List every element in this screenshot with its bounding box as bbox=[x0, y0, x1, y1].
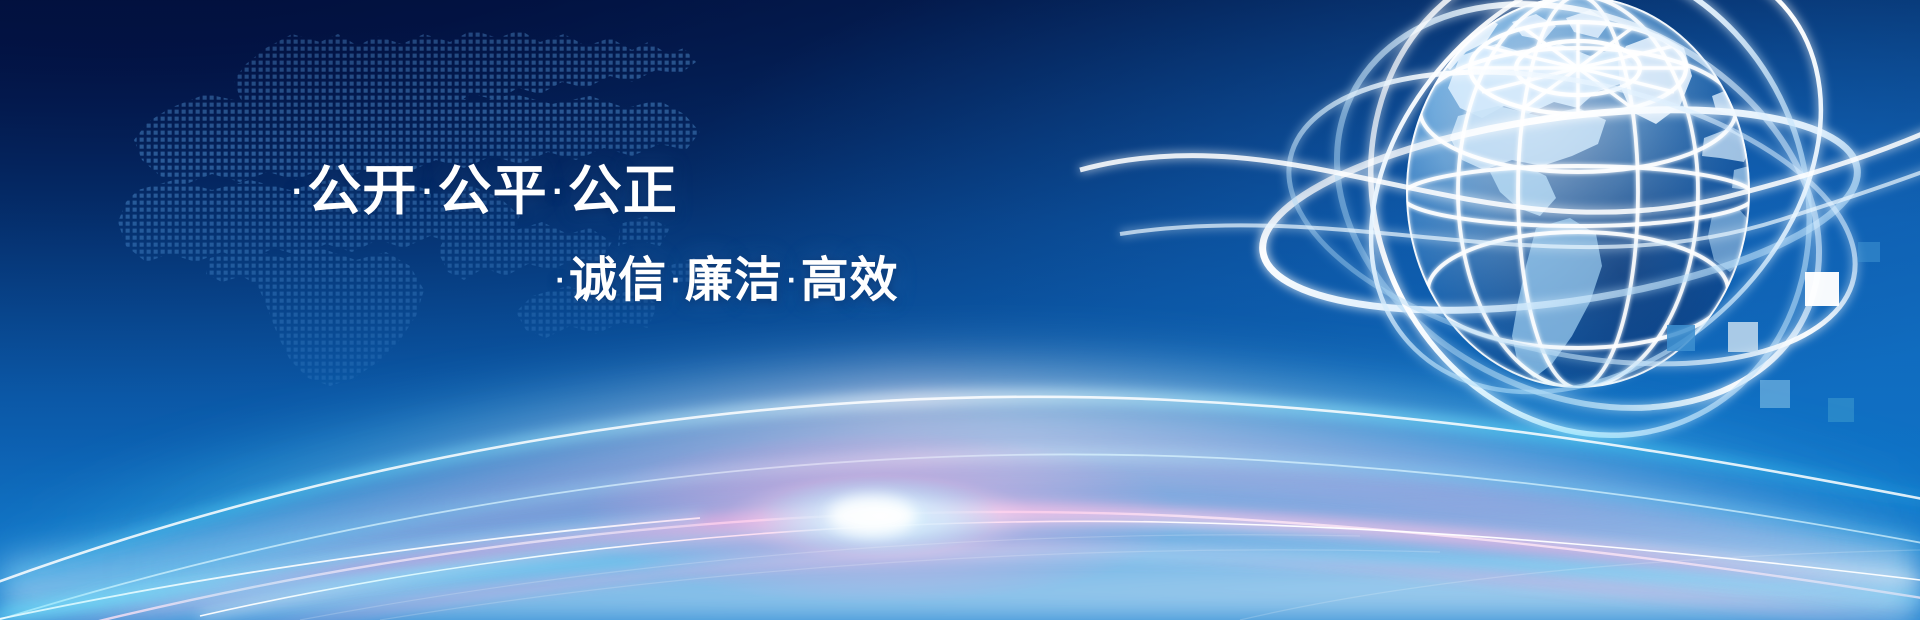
bottom-light-ribbons bbox=[0, 260, 1920, 620]
decorative-square bbox=[1858, 242, 1880, 262]
banner-root: ·公开·公平·公正 ·诚信·廉洁·高效 bbox=[0, 0, 1920, 620]
